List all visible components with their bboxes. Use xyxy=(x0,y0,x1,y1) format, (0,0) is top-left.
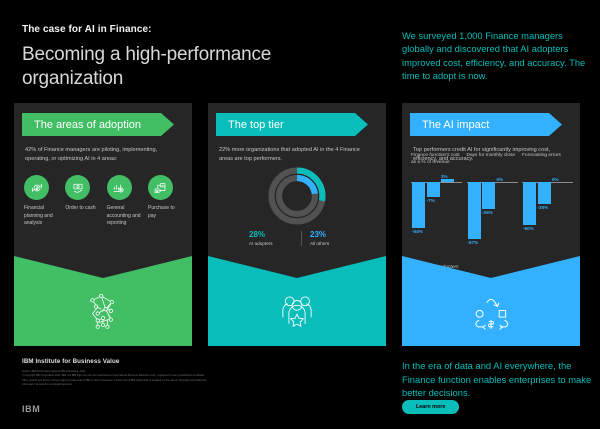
bar-value: -20% xyxy=(538,205,549,210)
bar: -54% xyxy=(412,182,425,228)
list-item: General accounting and reporting xyxy=(107,175,143,228)
panel2-blurb: 22% more organizations that adopted AI i… xyxy=(219,146,375,163)
fine-print: Source: IBM Performance Data and Benchma… xyxy=(22,370,207,387)
bar: 2% xyxy=(441,179,454,182)
intro-text: We surveyed 1,000 Finance managers globa… xyxy=(402,29,592,82)
list-item-label: Order to cash xyxy=(65,205,101,213)
panel1-ribbon: The areas of adoption xyxy=(22,113,174,136)
panel3-ribbon: The AI impact xyxy=(410,113,562,136)
general-accounting-icon xyxy=(107,175,132,200)
panel2-ribbon-label: The top tier xyxy=(228,119,284,131)
people-star-icon xyxy=(276,290,318,332)
bar-value: -50% xyxy=(523,226,534,231)
panel-ai-impact: The AI impact Top performers credit AI f… xyxy=(402,103,580,346)
financial-planning-icon xyxy=(24,175,49,200)
panel3-ribbon-label: The AI impact xyxy=(422,119,489,131)
bar: -50% xyxy=(523,182,536,225)
panel-top-tier: The top tier 22% more organizations that… xyxy=(208,103,386,346)
list-item-label: General accounting and reporting xyxy=(107,205,143,228)
ibv-wordmark: IBM Institute for Business Value xyxy=(22,358,119,365)
legend-value: 23% xyxy=(310,231,345,240)
bar: -20% xyxy=(538,182,551,204)
panel2-ribbon: The top tier xyxy=(216,113,368,136)
purchase-to-pay-icon xyxy=(148,175,173,200)
order-to-cash-icon xyxy=(65,175,90,200)
list-item-label: Financial planning and analysis xyxy=(24,205,60,228)
legend-value: 28% xyxy=(249,231,293,240)
donut-legend: 28% AI adopters 23% All others xyxy=(249,231,345,246)
bar-group: Days for monthly close -67% -25% 0% xyxy=(467,153,518,254)
bar-value: 2% xyxy=(441,174,448,179)
donut-chart xyxy=(266,165,328,227)
infographic-poster: The case for AI in Finance: Becoming a h… xyxy=(0,0,600,429)
bar: -7% xyxy=(427,182,440,197)
legend-item: 28% AI adopters xyxy=(249,231,293,246)
recycle-dollar-icon xyxy=(469,294,513,332)
page-kicker: The case for AI in Finance: xyxy=(22,24,352,36)
bar-group-title: Forecasting errors xyxy=(522,153,573,168)
bar-group: Forecasting errors -50% -20% 0% xyxy=(522,153,573,254)
learn-more-button[interactable]: Learn more xyxy=(402,400,459,414)
bar-value: -7% xyxy=(427,198,435,203)
bar-value: 0% xyxy=(552,177,559,182)
bar-group: Finance function's cost as a % of revenu… xyxy=(411,153,462,254)
adoption-areas-list: Financial planning and analysis Order to… xyxy=(24,175,184,228)
bar-value: -54% xyxy=(412,229,423,234)
page-title: Becoming a high-performance organization xyxy=(22,43,352,91)
panel1-blurb: 42% of Finance managers are piloting, im… xyxy=(25,146,181,163)
bar-value: -25% xyxy=(482,210,493,215)
bar-group-title: Finance function's cost as a % of revenu… xyxy=(411,153,462,168)
outro-text: In the era of data and AI everywhere, th… xyxy=(402,359,594,400)
bar-group-title: Days for monthly close xyxy=(467,153,518,168)
bar-chart: Finance function's cost as a % of revenu… xyxy=(411,153,573,254)
panel1-ribbon-label: The areas of adoption xyxy=(34,119,141,131)
panel-areas-of-adoption: The areas of adoption 42% of Finance man… xyxy=(14,103,192,346)
bar: -67% xyxy=(468,182,481,239)
header: The case for AI in Finance: Becoming a h… xyxy=(22,24,352,91)
neural-network-icon xyxy=(80,288,126,332)
ibm-logo: IBM xyxy=(22,404,40,414)
bar-value: 0% xyxy=(497,177,504,182)
list-item-label: Purchase to pay xyxy=(148,205,184,220)
legend-item: 23% All others xyxy=(301,231,345,246)
legend-label: AI adopters xyxy=(249,241,293,247)
list-item: Financial planning and analysis xyxy=(24,175,60,228)
copyright-note: © Copyright IBM Corporation 2021. IBM, t… xyxy=(22,374,207,387)
legend-label: All others xyxy=(310,241,345,247)
list-item: Order to cash xyxy=(65,175,101,228)
bar-value: -67% xyxy=(468,240,479,245)
bar: -25% xyxy=(482,182,495,209)
list-item: Purchase to pay xyxy=(148,175,184,228)
